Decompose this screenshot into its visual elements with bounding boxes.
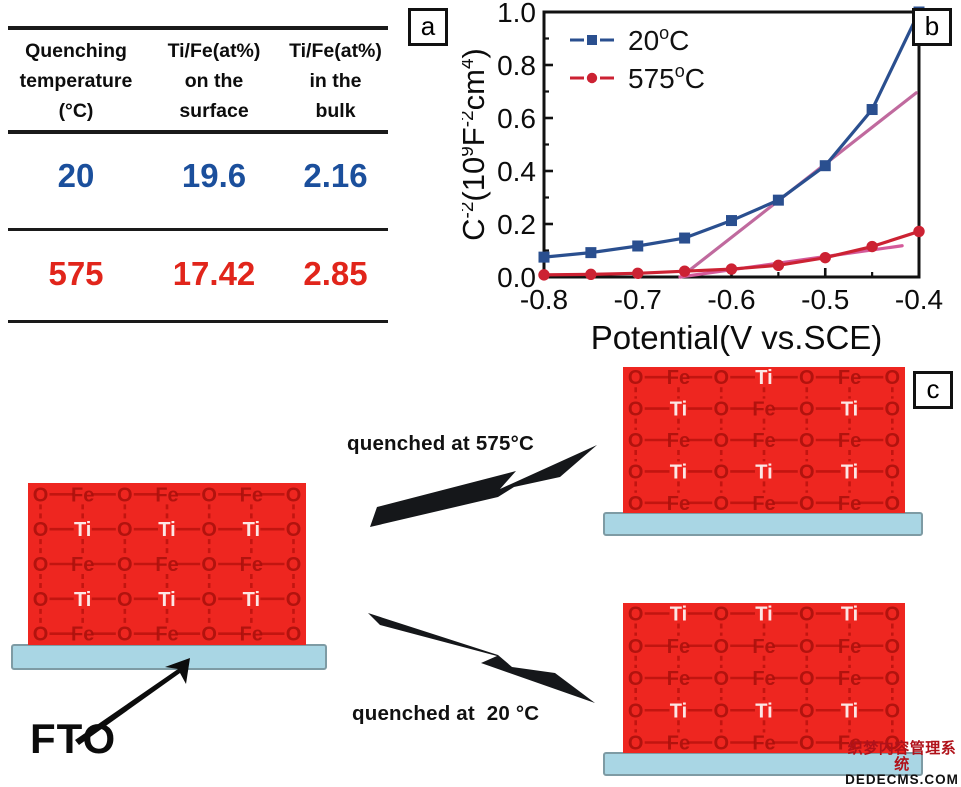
data-point-marker: [867, 241, 877, 251]
atom-label-fe: Fe: [667, 493, 690, 515]
atom-label-fe: Fe: [752, 733, 775, 755]
atom-label-fe: Fe: [752, 399, 775, 421]
data-point-marker: [867, 105, 877, 115]
header-line: on the: [152, 66, 276, 96]
atom-label-ti: Ti: [74, 519, 91, 541]
panel-label-b: b: [912, 8, 952, 46]
atom-label-o: O: [713, 636, 729, 658]
x-axis-label: Potential(V vs.SCE): [591, 319, 883, 356]
x-axis-tick-label: -0.5: [801, 284, 849, 315]
header-line: Quenching: [0, 36, 152, 66]
atom-label-fe: Fe: [752, 636, 775, 658]
atom-label-o: O: [799, 700, 815, 722]
atom-label-o: O: [286, 554, 302, 576]
table-row: 575 17.42 2.85: [0, 252, 395, 296]
data-point-marker: [820, 252, 830, 262]
substrate-fto: [604, 513, 922, 535]
atom-label-ti: Ti: [670, 700, 687, 722]
atom-label-o: O: [885, 700, 901, 722]
atom-label-o: O: [117, 589, 133, 611]
legend-marker: [587, 73, 597, 83]
atom-label-fe: Fe: [667, 367, 690, 389]
panel-a-table: Quenching temperature (°C) Ti/Fe(at%) on…: [0, 14, 395, 324]
atom-label-fe: Fe: [71, 554, 94, 576]
atom-label-fe: Fe: [667, 430, 690, 452]
arrow-quenched-20: [368, 613, 595, 703]
data-point-marker: [680, 233, 690, 243]
atom-label-o: O: [201, 484, 217, 506]
atom-label-ti: Ti: [74, 589, 91, 611]
atom-label-o: O: [885, 668, 901, 690]
atom-label-fe: Fe: [240, 554, 263, 576]
x-axis-tick-label: -0.6: [707, 284, 755, 315]
atom-label-o: O: [628, 636, 644, 658]
film-block-quenched-575: OFeOTiOFeOOTiOFeOTiOOFeOFeOFeOOTiOTiOTiO…: [604, 367, 922, 535]
atom-label-o: O: [713, 733, 729, 755]
data-point-marker: [914, 226, 924, 236]
watermark: 织梦内容管理系统 DEDECMS.COM: [843, 740, 961, 787]
atom-label-fe: Fe: [155, 554, 178, 576]
atom-label-o: O: [799, 668, 815, 690]
data-point-marker: [586, 248, 596, 258]
atom-label-fe: Fe: [667, 668, 690, 690]
data-point-marker: [726, 264, 736, 274]
atom-label-o: O: [799, 430, 815, 452]
cell-quenching-temperature: 20: [0, 154, 152, 198]
atom-label-fe: Fe: [240, 484, 263, 506]
atom-label-o: O: [885, 604, 901, 626]
atom-label-fe: Fe: [667, 733, 690, 755]
atom-label-ti: Ti: [755, 700, 772, 722]
data-point-marker: [633, 268, 643, 278]
atom-label-fe: Fe: [838, 430, 861, 452]
header-line: (°C): [0, 96, 152, 126]
panel-b-mott-schottky-chart: -0.8-0.7-0.6-0.5-0.40.00.20.40.60.81.0C-…: [462, 0, 961, 360]
atom-label-o: O: [628, 399, 644, 421]
legend-entry: 575oC: [570, 61, 705, 94]
atom-label-o: O: [799, 493, 815, 515]
atom-label-o: O: [628, 604, 644, 626]
atom-label-o: O: [201, 624, 217, 646]
atom-label-ti: Ti: [841, 399, 858, 421]
y-axis-tick-label: 1.0: [497, 0, 536, 28]
atom-label-o: O: [117, 624, 133, 646]
column-header-ti-fe-bulk: Ti/Fe(at%) in the bulk: [276, 36, 395, 126]
atom-label-o: O: [33, 519, 49, 541]
atom-label-fe: Fe: [155, 484, 178, 506]
atom-label-fe: Fe: [71, 484, 94, 506]
data-point-marker: [586, 269, 596, 279]
atom-label-o: O: [117, 554, 133, 576]
y-axis-tick-label: 0.6: [497, 103, 536, 134]
table-header-row: Quenching temperature (°C) Ti/Fe(at%) on…: [0, 36, 395, 126]
atom-label-o: O: [885, 367, 901, 389]
atom-label-o: O: [628, 668, 644, 690]
table-rule-top: [8, 26, 388, 30]
y-axis-tick-label: 0.2: [497, 209, 536, 240]
y-axis-tick-label: 0.8: [497, 50, 536, 81]
atom-label-ti: Ti: [670, 461, 687, 483]
table-row: 20 19.6 2.16: [0, 154, 395, 198]
header-line: temperature: [0, 66, 152, 96]
chart-svg: -0.8-0.7-0.6-0.5-0.40.00.20.40.60.81.0C-…: [462, 0, 961, 360]
atom-label-o: O: [713, 493, 729, 515]
legend-marker: [587, 35, 597, 45]
atom-label-ti: Ti: [670, 604, 687, 626]
atom-label-ti: Ti: [841, 700, 858, 722]
atom-label-o: O: [799, 461, 815, 483]
cell-ti-fe-bulk: 2.85: [276, 252, 395, 296]
fto-label: FTO: [30, 715, 116, 763]
data-point-marker: [633, 241, 643, 251]
legend-label: 575oC: [628, 61, 705, 94]
atom-label-o: O: [713, 700, 729, 722]
atom-label-o: O: [117, 519, 133, 541]
atom-label-o: O: [799, 399, 815, 421]
atom-label-o: O: [628, 733, 644, 755]
atom-label-o: O: [885, 461, 901, 483]
header-line: surface: [152, 96, 276, 126]
atom-label-ti: Ti: [841, 604, 858, 626]
watermark-cn-text: 织梦内容管理系统: [843, 740, 961, 772]
x-axis-tick-label: -0.7: [614, 284, 662, 315]
atom-label-o: O: [885, 636, 901, 658]
atom-label-o: O: [628, 700, 644, 722]
atom-label-o: O: [713, 430, 729, 452]
cell-quenching-temperature: 575: [0, 252, 152, 296]
column-header-ti-fe-surface: Ti/Fe(at%) on the surface: [152, 36, 276, 126]
atom-label-o: O: [885, 493, 901, 515]
atom-label-o: O: [885, 399, 901, 421]
header-line: bulk: [276, 96, 395, 126]
atom-label-o: O: [201, 519, 217, 541]
data-point-marker: [539, 270, 549, 280]
column-header-quenching-temperature: Quenching temperature (°C): [0, 36, 152, 126]
substrate-fto: [12, 645, 326, 669]
atom-label-fe: Fe: [752, 430, 775, 452]
table-rule-middle: [8, 228, 388, 231]
atom-label-fe: Fe: [752, 668, 775, 690]
atom-label-ti: Ti: [243, 519, 260, 541]
panel-label-a: a: [408, 8, 448, 46]
cell-ti-fe-bulk: 2.16: [276, 154, 395, 198]
data-point-marker: [539, 252, 549, 262]
atom-label-o: O: [628, 493, 644, 515]
cell-ti-fe-surface: 17.42: [152, 252, 276, 296]
atom-label-o: O: [286, 589, 302, 611]
atom-label-o: O: [799, 636, 815, 658]
table-rule-bottom: [8, 320, 388, 323]
header-line: Ti/Fe(at%): [276, 36, 395, 66]
atom-label-fe: Fe: [838, 668, 861, 690]
data-point-marker: [820, 161, 830, 171]
atom-label-ti: Ti: [841, 461, 858, 483]
data-point-marker: [727, 216, 737, 226]
atom-label-o: O: [286, 519, 302, 541]
data-point-marker: [679, 266, 689, 276]
atom-label-o: O: [201, 554, 217, 576]
header-line: in the: [276, 66, 395, 96]
atom-label-o: O: [713, 461, 729, 483]
atom-label-o: O: [33, 554, 49, 576]
atom-label-fe: Fe: [838, 367, 861, 389]
atom-label-ti: Ti: [670, 399, 687, 421]
atom-label-fe: Fe: [667, 636, 690, 658]
atom-label-ti: Ti: [158, 589, 175, 611]
atom-label-o: O: [33, 484, 49, 506]
arrow-label-quenched-20: quenched at 20 °C: [352, 702, 539, 726]
atom-label-fe: Fe: [71, 624, 94, 646]
x-axis-tick-label: -0.4: [895, 284, 943, 315]
atom-label-o: O: [33, 589, 49, 611]
atom-label-fe: Fe: [240, 624, 263, 646]
legend-entry: 20oC: [570, 23, 689, 56]
atom-label-ti: Ti: [755, 461, 772, 483]
atom-label-o: O: [286, 484, 302, 506]
atom-label-o: O: [713, 399, 729, 421]
y-axis-tick-label: 0.4: [497, 156, 536, 187]
atom-label-ti: Ti: [755, 367, 772, 389]
arrow-label-quenched-575: quenched at 575°C: [347, 432, 534, 456]
atom-label-o: O: [799, 367, 815, 389]
atom-label-fe: Fe: [752, 493, 775, 515]
atom-label-o: O: [628, 461, 644, 483]
header-line: Ti/Fe(at%): [152, 36, 276, 66]
atom-label-ti: Ti: [755, 604, 772, 626]
arrow-quenched-575: [370, 445, 597, 527]
atom-label-o: O: [713, 668, 729, 690]
atom-label-o: O: [713, 367, 729, 389]
atom-label-ti: Ti: [243, 589, 260, 611]
atom-label-fe: Fe: [155, 624, 178, 646]
atom-label-o: O: [117, 484, 133, 506]
y-axis-label-text: C-2(109F-2cm4): [462, 48, 491, 241]
atom-label-o: O: [286, 624, 302, 646]
data-point-marker: [773, 260, 783, 270]
atom-label-o: O: [799, 733, 815, 755]
cell-ti-fe-surface: 19.6: [152, 154, 276, 198]
film-block-pristine: OFeOFeOFeOOTiOTiOTiOOFeOFeOFeOOTiOTiOTiO…: [12, 483, 326, 669]
watermark-en-text: DEDECMS.COM: [843, 772, 961, 787]
atom-label-ti: Ti: [158, 519, 175, 541]
atom-label-o: O: [799, 604, 815, 626]
atom-label-o: O: [628, 430, 644, 452]
atom-label-o: O: [885, 430, 901, 452]
atom-label-o: O: [201, 589, 217, 611]
atom-label-o: O: [33, 624, 49, 646]
y-axis-label: C-2(109F-2cm4): [462, 48, 491, 241]
panel-label-c: c: [913, 371, 953, 409]
atom-label-o: O: [713, 604, 729, 626]
y-axis-tick-label: 0.0: [497, 262, 536, 293]
atom-label-fe: Fe: [838, 636, 861, 658]
data-point-marker: [773, 195, 783, 205]
atom-label-o: O: [628, 367, 644, 389]
atom-label-fe: Fe: [838, 493, 861, 515]
legend-label: 20oC: [628, 23, 689, 56]
table-rule-header: [8, 130, 388, 134]
